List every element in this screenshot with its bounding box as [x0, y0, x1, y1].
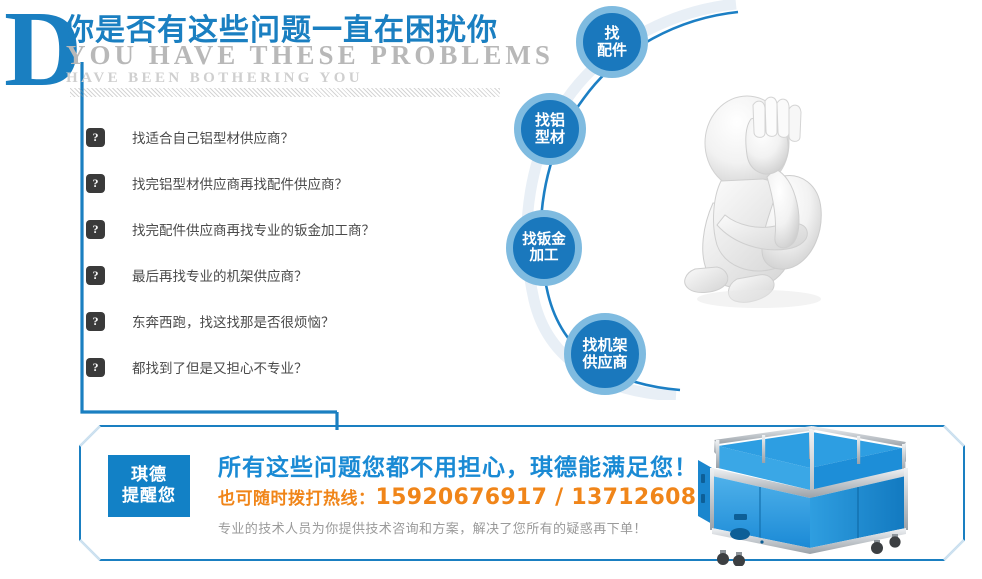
banner-headline: 所有这些问题您都不用担心，琪德能满足您！: [218, 448, 698, 482]
flow-node-find-sheet-metal: 找钣金 加工: [506, 210, 582, 286]
flow-node-label-line1: 找钣金: [522, 232, 566, 248]
flow-node-label-line2: 型材: [535, 128, 565, 146]
flow-node-find-parts: 找 配件: [576, 6, 648, 78]
brand-logo-box: 琪德 提醒您: [108, 455, 190, 517]
promo-banner-root: D 你是否有这些问题一直在困扰你 YOU HAVE THESE PROBLEMS…: [0, 0, 982, 579]
flow-node-label-line2: 加工: [530, 248, 559, 264]
list-item: ? 都找到了但是又担心不专业？: [86, 356, 375, 378]
hatched-divider: [70, 88, 500, 97]
flow-node-label-line2: 配件: [597, 41, 627, 59]
question-mark-icon: ?: [86, 220, 105, 239]
subtitle-english-line2: HAVE BEEN BOTHERING YOU: [66, 70, 363, 87]
banner-footnote: 专业的技术人员为你提供技术咨询和方案，解决了您所有的疑惑再下单！: [218, 518, 647, 537]
workbench-illustration: [692, 416, 940, 566]
question-mark-icon: ?: [86, 266, 105, 285]
problem-list: ? 找适合自己铝型材供应商？ ? 找完铝型材供应商再找配件供应商？ ? 找完配件…: [86, 126, 375, 402]
list-item: ? 找完配件供应商再找专业的钣金加工商？: [86, 218, 375, 240]
hotline-label: 也可随时拨打热线：: [218, 489, 376, 509]
list-item: ? 最后再找专业的机架供应商？: [86, 264, 375, 286]
list-item-label: 找完铝型材供应商再找配件供应商？: [132, 173, 348, 193]
brand-logo-line1: 琪德: [131, 465, 167, 486]
flow-node-label-line1: 找机架: [582, 336, 627, 354]
list-item-label: 找完配件供应商再找专业的钣金加工商？: [132, 219, 375, 239]
question-mark-icon: ?: [86, 128, 105, 147]
list-item: ? 找适合自己铝型材供应商？: [86, 126, 375, 148]
question-mark-icon: ?: [86, 174, 105, 193]
flow-node-label-line1: 找: [604, 24, 619, 42]
flow-node-label-line2: 供应商: [582, 353, 627, 371]
brand-logo-line2: 提醒您: [122, 486, 176, 507]
banner-hotline: 也可随时拨打热线：15920676917 / 13712608258: [218, 484, 743, 510]
list-item-label: 找适合自己铝型材供应商？: [132, 127, 294, 147]
list-item: ? 找完铝型材供应商再找配件供应商？: [86, 172, 375, 194]
list-item-label: 都找到了但是又担心不专业？: [132, 357, 308, 377]
hotline-numbers: 15920676917 / 13712608258: [376, 485, 744, 510]
list-item-label: 最后再找专业的机架供应商？: [132, 265, 308, 285]
flow-node-find-aluminium-profile: 找铝 型材: [514, 93, 586, 165]
list-item: ? 东奔西跑，找这找那是否很烦恼？: [86, 310, 375, 332]
flow-node-find-rack-supplier: 找机架 供应商: [564, 313, 646, 395]
flow-node-label-line1: 找铝: [535, 111, 565, 129]
question-mark-icon: ?: [86, 358, 105, 377]
list-item-label: 东奔西跑，找这找那是否很烦恼？: [132, 311, 335, 331]
question-mark-icon: ?: [86, 312, 105, 331]
